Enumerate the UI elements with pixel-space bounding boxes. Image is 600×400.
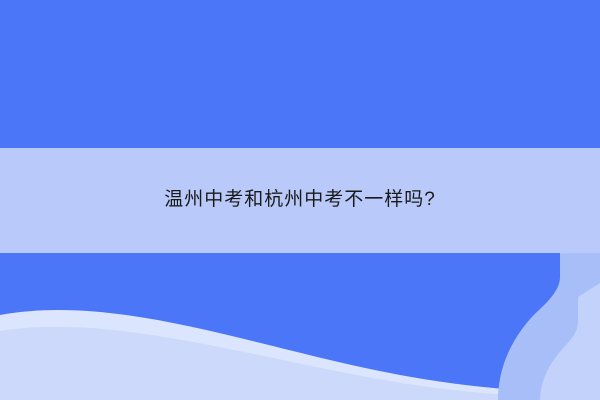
bottom-wave-band <box>0 253 600 400</box>
wave-decoration-icon <box>0 253 600 400</box>
title-band: 温州中考和杭州中考不一样吗? <box>0 148 600 253</box>
page-title: 温州中考和杭州中考不一样吗? <box>164 187 436 214</box>
top-color-band <box>0 0 600 148</box>
banner-card: 温州中考和杭州中考不一样吗? <box>0 0 600 400</box>
